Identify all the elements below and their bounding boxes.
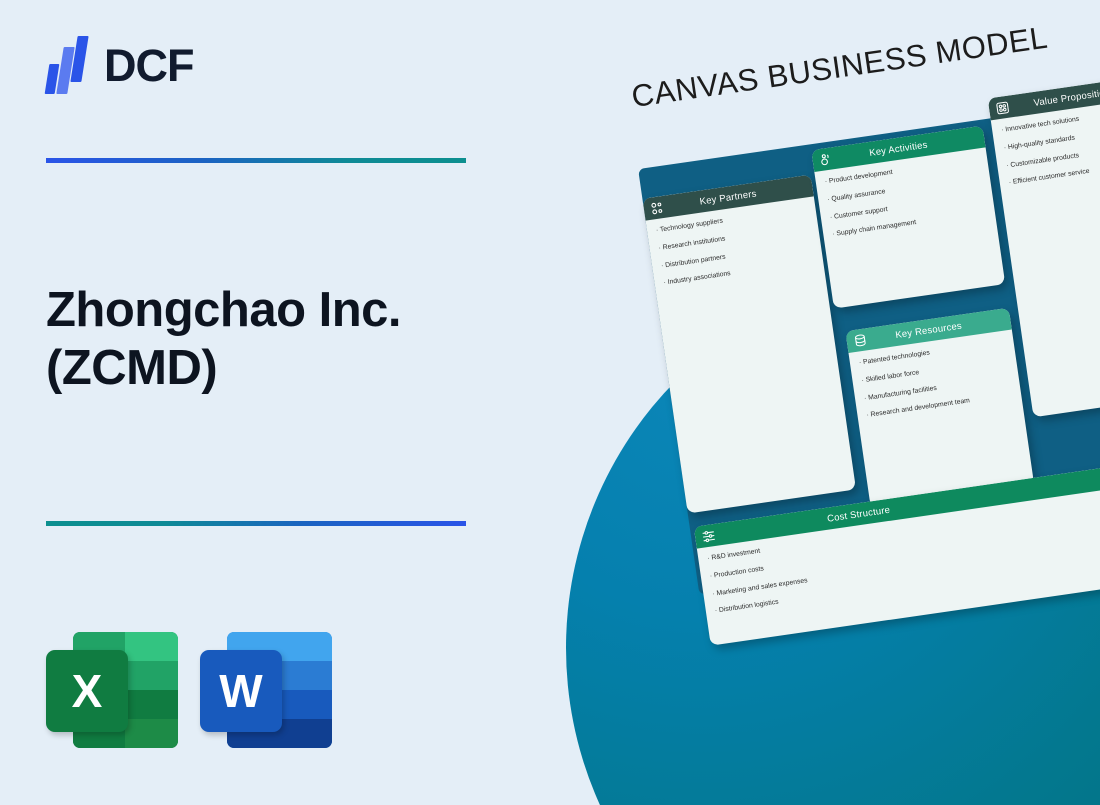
sliders-settings-icon <box>700 527 717 544</box>
handshake-partners-icon <box>649 199 666 216</box>
dcf-bars-logo-icon <box>46 36 90 94</box>
gift-value-icon <box>994 99 1011 116</box>
database-icon <box>852 332 869 349</box>
word-file-icon[interactable]: W <box>200 628 332 752</box>
canvas-board-stage: CANVAS BUSINESS MODEL Key Partners Techn… <box>612 0 1100 620</box>
canvas-card-key-activities[interactable]: Key Activities Product development Quali… <box>811 126 1005 309</box>
brand-name: DCF <box>104 43 193 88</box>
excel-file-icon[interactable]: X <box>46 628 178 752</box>
left-info-panel: DCF Zhongchao Inc. (ZCMD) X W <box>0 0 560 805</box>
word-badge-letter: W <box>200 650 282 732</box>
excel-badge-letter: X <box>46 650 128 732</box>
megaphone-activity-icon <box>818 151 835 168</box>
divider-top <box>46 158 466 163</box>
brand-logo[interactable]: DCF <box>46 36 193 94</box>
file-format-icons: X W <box>46 628 332 752</box>
divider-bottom <box>46 521 466 526</box>
slide-canvas: CANVAS BUSINESS MODEL Key Partners Techn… <box>0 0 1100 805</box>
page-title: Zhongchao Inc. (ZCMD) <box>46 282 516 398</box>
canvas-card-key-resources[interactable]: Key Resources Patented technologies Skil… <box>845 308 1034 508</box>
